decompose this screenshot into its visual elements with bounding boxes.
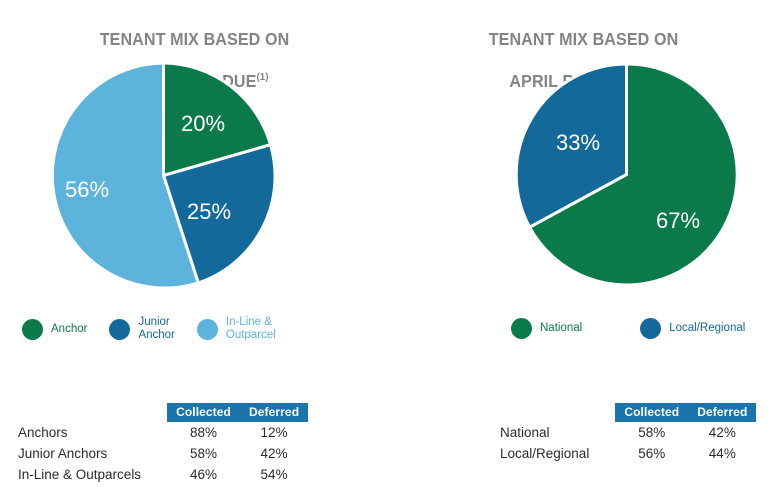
right-pie-chart: 33% 67% — [516, 64, 737, 285]
pie-label-inline-outparcel: 56% — [65, 177, 109, 202]
right-data-table: Collected Deferred National 58% 42% Loca… — [500, 403, 756, 464]
table-header-row: Collected Deferred — [500, 403, 756, 422]
table-header-collected: Collected — [615, 403, 688, 422]
right-chart-legend: National Local/Regional — [511, 318, 778, 339]
legend-label-anchor: Anchor — [51, 323, 87, 336]
table-cell-deferred: 54% — [240, 464, 308, 485]
right-chart-title-line1: TENANT MIX BASED ON — [489, 29, 679, 49]
table-cell-label: Anchors — [18, 422, 167, 443]
legend-item-local-regional[interactable]: Local/Regional — [640, 318, 745, 339]
pie-label-local-regional: 33% — [556, 130, 600, 155]
table-cell-deferred: 44% — [688, 443, 756, 464]
table-row: In-Line & Outparcels 46% 54% — [18, 464, 308, 485]
legend-dot-national — [511, 318, 532, 339]
table-cell-label: Junior Anchors — [18, 443, 167, 464]
legend-label-local-regional: Local/Regional — [669, 322, 745, 335]
table-cell-collected: 58% — [167, 443, 240, 464]
table-header-row: Collected Deferred — [18, 403, 308, 422]
left-pie-svg: 20% 25% 56% — [51, 63, 276, 288]
table-header-deferred: Deferred — [688, 403, 756, 422]
table-cell-collected: 56% — [615, 443, 688, 464]
legend-item-national[interactable]: National — [511, 318, 582, 339]
left-chart-panel: TENANT MIX BASED ON APRIL RENT DUE(1) 20… — [0, 0, 389, 487]
table-row: Junior Anchors 58% 42% — [18, 443, 308, 464]
table-cell-collected: 46% — [167, 464, 240, 485]
pie-label-junior-anchor: 25% — [187, 199, 231, 224]
table-cell-collected: 58% — [615, 422, 688, 443]
table-cell-label: National — [500, 422, 615, 443]
table-header-collected: Collected — [167, 403, 240, 422]
table-header-deferred: Deferred — [240, 403, 308, 422]
legend-label-national: National — [540, 322, 582, 335]
right-chart-panel: TENANT MIX BASED ON APRIL RENT DUE(1) 33… — [389, 0, 778, 487]
pie-label-anchor: 20% — [181, 111, 225, 136]
table-cell-deferred: 12% — [240, 422, 308, 443]
legend-label-junior-anchor: Junior Anchor — [138, 316, 174, 342]
legend-item-inline-outparcel[interactable]: In-Line & Outparcel — [197, 316, 276, 342]
table-row: Local/Regional 56% 44% — [500, 443, 756, 464]
legend-item-junior-anchor[interactable]: Junior Anchor — [109, 316, 174, 342]
right-pie-svg: 33% 67% — [516, 64, 737, 285]
table-header-blank — [18, 403, 167, 422]
left-chart-legend: Anchor Junior Anchor In-Line & Outparcel — [22, 316, 322, 342]
table-cell-collected: 88% — [167, 422, 240, 443]
table-cell-deferred: 42% — [240, 443, 308, 464]
table-row: National 58% 42% — [500, 422, 756, 443]
table-cell-deferred: 42% — [688, 422, 756, 443]
legend-label-inline-outparcel: In-Line & Outparcel — [226, 316, 276, 342]
legend-dot-junior-anchor — [109, 319, 130, 340]
legend-dot-inline-outparcel — [197, 319, 218, 340]
left-pie-chart: 20% 25% 56% — [51, 63, 276, 288]
pie-label-national: 67% — [656, 208, 700, 233]
table-cell-label: Local/Regional — [500, 443, 615, 464]
legend-item-anchor[interactable]: Anchor — [22, 319, 87, 340]
table-header-blank — [500, 403, 615, 422]
table-cell-label: In-Line & Outparcels — [18, 464, 167, 485]
left-chart-title-line1: TENANT MIX BASED ON — [100, 29, 290, 49]
legend-dot-anchor — [22, 319, 43, 340]
left-data-table: Collected Deferred Anchors 88% 12% Junio… — [18, 403, 308, 485]
legend-dot-local-regional — [640, 318, 661, 339]
table-row: Anchors 88% 12% — [18, 422, 308, 443]
